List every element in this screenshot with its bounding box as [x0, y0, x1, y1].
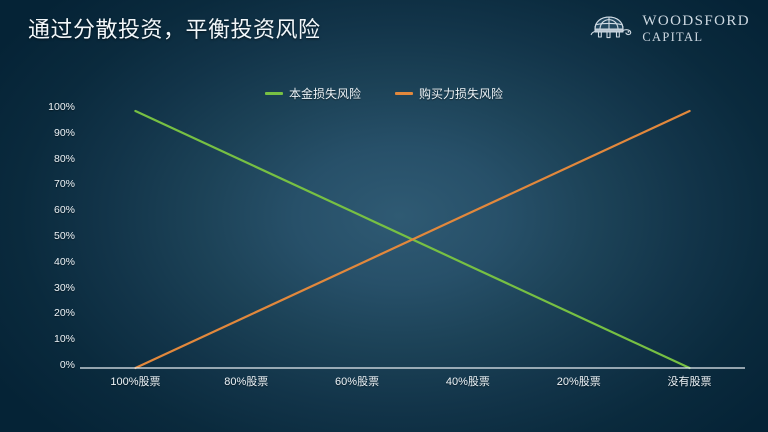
x-axis-tick-2: 60%股票 [302, 370, 413, 394]
legend-label-0: 本金损失风险 [289, 85, 361, 102]
y-axis-tick-2: 80% [30, 153, 75, 165]
legend-swatch-0 [265, 92, 283, 95]
legend-swatch-1 [395, 92, 413, 95]
y-axis-tick-3: 70% [30, 178, 75, 190]
chart-area: 100%90%80%70%60%50%40%30%20%10%0% 100%股票… [0, 105, 768, 405]
y-axis-tick-8: 20% [30, 307, 75, 319]
brand-wordmark: WOODSFORD CAPITAL [642, 13, 750, 45]
y-axis-tick-7: 30% [30, 282, 75, 294]
y-axis-tick-4: 60% [30, 204, 75, 216]
page-title: 通过分散投资，平衡投资风险 [28, 14, 321, 46]
y-axis-tick-0: 100% [30, 101, 75, 113]
slide-canvas: 通过分散投资，平衡投资风险 WOODSFORD CAPITAL [0, 0, 768, 432]
x-axis-tick-5: 没有股票 [634, 370, 745, 394]
brand-logo: WOODSFORD CAPITAL [587, 12, 750, 46]
x-axis: 100%股票80%股票60%股票40%股票20%股票没有股票 [80, 370, 745, 394]
y-axis-tick-10: 0% [30, 359, 75, 371]
chart-legend: 本金损失风险购买力损失风险 [0, 85, 768, 102]
y-axis-tick-6: 40% [30, 256, 75, 268]
legend-item-0[interactable]: 本金损失风险 [265, 85, 361, 102]
legend-item-1[interactable]: 购买力损失风险 [395, 85, 503, 102]
brand-name-line1: WOODSFORD [642, 13, 750, 30]
y-axis: 100%90%80%70%60%50%40%30%20%10%0% [30, 107, 75, 365]
brand-name-line2: CAPITAL [642, 30, 750, 45]
series-group [135, 111, 689, 368]
y-axis-tick-9: 10% [30, 333, 75, 345]
y-axis-tick-1: 90% [30, 127, 75, 139]
tortoise-icon [587, 12, 633, 46]
x-axis-tick-0: 100%股票 [80, 370, 191, 394]
x-axis-tick-3: 40%股票 [412, 370, 523, 394]
y-axis-tick-5: 50% [30, 230, 75, 242]
x-axis-tick-1: 80%股票 [191, 370, 302, 394]
x-axis-tick-4: 20%股票 [523, 370, 634, 394]
line-chart-svg [80, 107, 745, 369]
legend-label-1: 购买力损失风险 [419, 85, 503, 102]
plot-region [80, 107, 745, 369]
